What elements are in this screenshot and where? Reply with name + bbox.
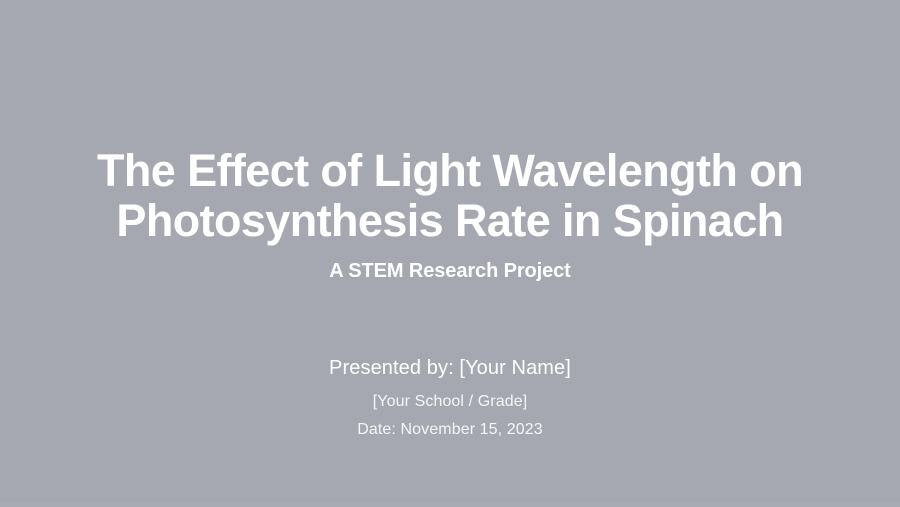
title-slide: The Effect of Light Wavelength on Photos…: [0, 0, 900, 507]
presentation-date-text: Date: November 15, 2023: [40, 419, 860, 441]
school-grade-text: [Your School / Grade]: [40, 391, 860, 413]
title-line-2: Photosynthesis Rate in Spinach: [40, 196, 860, 246]
title-block: The Effect of Light Wavelength on Photos…: [0, 146, 900, 284]
title-line-1: The Effect of Light Wavelength on: [40, 146, 860, 196]
slide-subtitle: A STEM Research Project: [40, 258, 860, 284]
presented-by-text: Presented by: [Your Name]: [40, 355, 860, 381]
slide-bottom-band: [0, 502, 900, 507]
slide-content: The Effect of Light Wavelength on Photos…: [0, 0, 900, 507]
page-title: The Effect of Light Wavelength on Photos…: [40, 146, 860, 246]
presenter-block: Presented by: [Your Name] [Your School /…: [0, 355, 900, 441]
